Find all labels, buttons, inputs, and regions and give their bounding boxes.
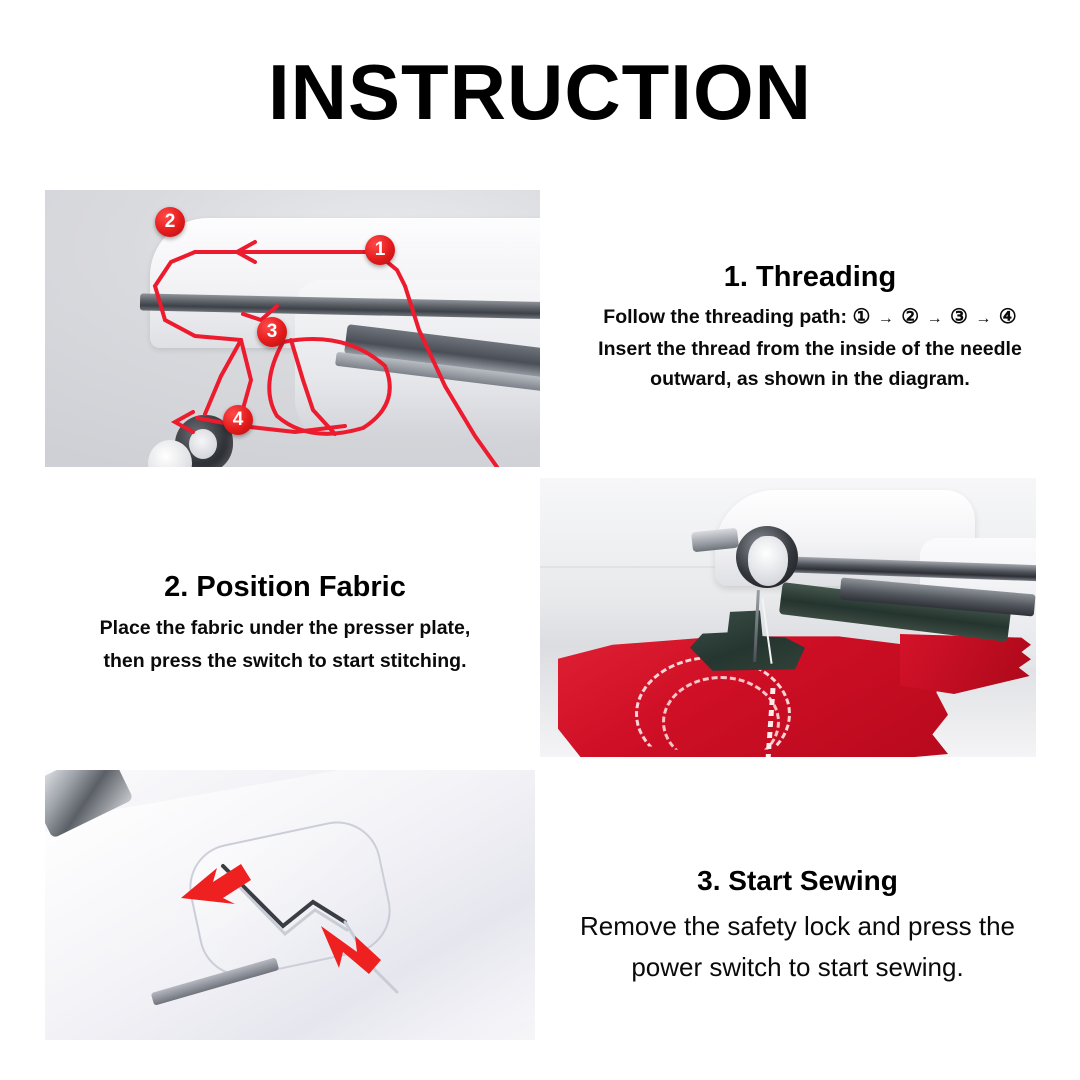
step-3-body-line-2: power switch to start sewing. bbox=[545, 947, 1050, 988]
safety-lock-arrow-shape bbox=[181, 864, 251, 904]
position-fabric-photo bbox=[540, 478, 1036, 757]
step-2-heading: 2. Position Fabric bbox=[40, 568, 530, 606]
thread-spool-core-shape bbox=[748, 536, 788, 586]
threading-marker-2: 2 bbox=[155, 207, 185, 237]
step-3-text-block: 3. Start Sewing Remove the safety lock a… bbox=[545, 862, 1050, 988]
threading-diagram-photo: 1 2 3 4 bbox=[45, 190, 540, 467]
threading-path-label: Follow the threading path: bbox=[603, 306, 847, 328]
step-1-body-line-1: Follow the threading path: ① → ② → ③ → ④ bbox=[560, 302, 1060, 334]
step-1-body: Follow the threading path: ① → ② → ③ → ④… bbox=[560, 302, 1060, 394]
step-1-heading: 1. Threading bbox=[560, 258, 1060, 296]
start-sewing-photo bbox=[45, 770, 535, 1040]
sequence-arrow-2: → bbox=[925, 310, 945, 327]
step-3-body-line-1: Remove the safety lock and press the bbox=[545, 906, 1050, 947]
step-1-body-line-2: Insert the thread from the inside of the… bbox=[560, 334, 1060, 364]
step-1-text-block: 1. Threading Follow the threading path: … bbox=[560, 258, 1060, 394]
circled-number-2: ② bbox=[901, 306, 919, 328]
instruction-page: INSTRUCTION bbox=[0, 0, 1080, 1080]
threading-marker-3: 3 bbox=[257, 317, 287, 347]
sequence-arrow-1: → bbox=[876, 310, 896, 327]
thread-path-overlay bbox=[45, 190, 540, 467]
step-2-body: Place the fabric under the presser plate… bbox=[40, 612, 530, 678]
step-2-text-block: 2. Position Fabric Place the fabric unde… bbox=[40, 568, 530, 678]
step-3-heading: 3. Start Sewing bbox=[545, 862, 1050, 900]
page-title: INSTRUCTION bbox=[0, 48, 1080, 136]
step-1-body-line-3: outward, as shown in the diagram. bbox=[560, 364, 1060, 394]
threading-marker-1: 1 bbox=[365, 235, 395, 265]
circled-number-4: ④ bbox=[999, 306, 1017, 328]
circled-number-1: ① bbox=[852, 306, 870, 328]
step-2-body-line-2: then press the switch to start stitching… bbox=[40, 645, 530, 678]
step-2-body-line-1: Place the fabric under the presser plate… bbox=[40, 612, 530, 645]
sequence-arrow-3: → bbox=[973, 310, 993, 327]
circled-number-3: ③ bbox=[950, 306, 968, 328]
threading-marker-4: 4 bbox=[223, 405, 253, 435]
step-3-body: Remove the safety lock and press the pow… bbox=[545, 906, 1050, 988]
switch-track-overlay bbox=[45, 770, 535, 1040]
